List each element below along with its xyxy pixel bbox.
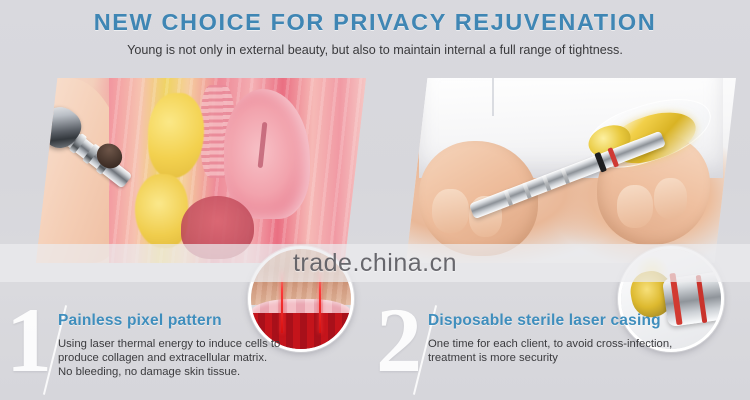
rod-notch-3: [542, 175, 551, 191]
feature-desc-line: Using laser thermal energy to induce cel…: [58, 337, 370, 351]
rod-notch-1: [504, 189, 513, 205]
coat-seam: [492, 78, 494, 116]
finger-3: [617, 185, 653, 228]
rod-red-ring: [608, 147, 620, 167]
promo-banner: NEW CHOICE FOR PRIVACY REJUVENATION Youn…: [0, 0, 750, 400]
rod-notch-2: [523, 182, 532, 198]
feature-title-1: Painless pixel pattern: [58, 312, 370, 330]
photo-doctor-holding-laser: [406, 78, 736, 263]
feature-list: 1 Painless pixel pattern Using laser the…: [0, 300, 750, 400]
feature-description-2: One time for each client, to avoid cross…: [428, 337, 740, 365]
feature-item-2: 2 Disposable sterile laser casing One ti…: [370, 300, 745, 400]
feature-desc-line: treatment is more security: [428, 351, 740, 365]
feature-desc-line: produce collagen and extracellular matri…: [58, 351, 370, 365]
feature-description-1: Using laser thermal energy to induce cel…: [58, 337, 370, 380]
feature-desc-line: No bleeding, no damage skin tissue.: [58, 365, 370, 379]
feature-title-2: Disposable sterile laser casing: [428, 312, 740, 330]
illustration-anatomical-laser: [36, 78, 366, 263]
feature-number-1: 1: [6, 294, 52, 386]
feature-desc-line: One time for each client, to avoid cross…: [428, 337, 740, 351]
finger-1: [432, 189, 468, 233]
watermark-text: trade.china.cn: [293, 249, 457, 278]
rod-notch-4: [561, 167, 570, 183]
rod-o-ring: [595, 152, 608, 173]
feature-item-1: 1 Painless pixel pattern Using laser the…: [0, 300, 375, 400]
anatomy-illustration: [36, 78, 366, 263]
page-subtitle: Young is not only in external beauty, bu…: [0, 36, 750, 57]
finger-4: [654, 178, 687, 219]
page-title: NEW CHOICE FOR PRIVACY REJUVENATION: [0, 0, 750, 36]
watermark-band: trade.china.cn: [0, 244, 750, 282]
clinic-photo: [406, 78, 736, 263]
banner-header: NEW CHOICE FOR PRIVACY REJUVENATION Youn…: [0, 0, 750, 68]
media-band: trade.china.cn: [0, 68, 750, 288]
feature-number-2: 2: [376, 294, 422, 386]
